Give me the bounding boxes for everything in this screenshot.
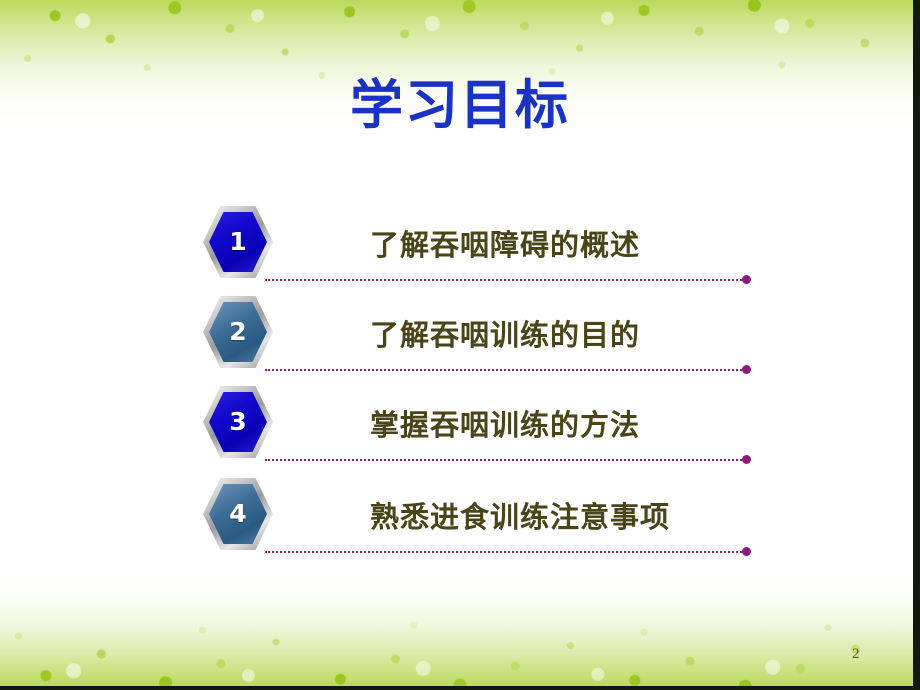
objective-row: 3 掌握吞咽训练的方法 (0, 386, 920, 478)
objective-row: 2 了解吞咽训练的目的 (0, 296, 920, 388)
dotted-connector-line (265, 459, 745, 461)
hexagon-number-label: 2 (229, 317, 246, 346)
hexagon-number-label: 3 (229, 407, 246, 436)
objective-label-2: 了解吞咽训练的目的 (370, 312, 640, 354)
hexagon-badge-3: 3 (203, 386, 273, 458)
objective-label-1: 了解吞咽障碍的概述 (370, 222, 640, 264)
hexagon-number-label: 1 (229, 227, 246, 256)
objective-row: 4 熟悉进食训练注意事项 (0, 478, 920, 570)
objective-label-3: 掌握吞咽训练的方法 (370, 402, 640, 444)
objective-label-4: 熟悉进食训练注意事项 (370, 494, 670, 536)
connector-end-dot-icon (742, 547, 751, 556)
hexagon-badge-1: 1 (203, 206, 273, 278)
slide-bottom-edge-border (0, 686, 920, 690)
green-speckle-bottom-decoration (0, 570, 920, 690)
connector-end-dot-icon (742, 275, 751, 284)
objective-row: 1 了解吞咽障碍的概述 (0, 206, 920, 298)
hexagon-badge-4: 4 (203, 478, 273, 550)
hexagon-badge-2: 2 (203, 296, 273, 368)
page-number: 2 (852, 646, 860, 663)
dotted-connector-line (265, 369, 745, 371)
page-title: 学习目标 (0, 78, 920, 134)
connector-end-dot-icon (742, 365, 751, 374)
slide-canvas: 学习目标 1 了解吞咽障碍的概述 2 了解吞咽训练的目的 3 掌握 (0, 0, 920, 690)
hexagon-number-label: 4 (229, 499, 246, 528)
connector-end-dot-icon (742, 455, 751, 464)
dotted-connector-line (265, 279, 745, 281)
dotted-connector-line (265, 551, 745, 553)
